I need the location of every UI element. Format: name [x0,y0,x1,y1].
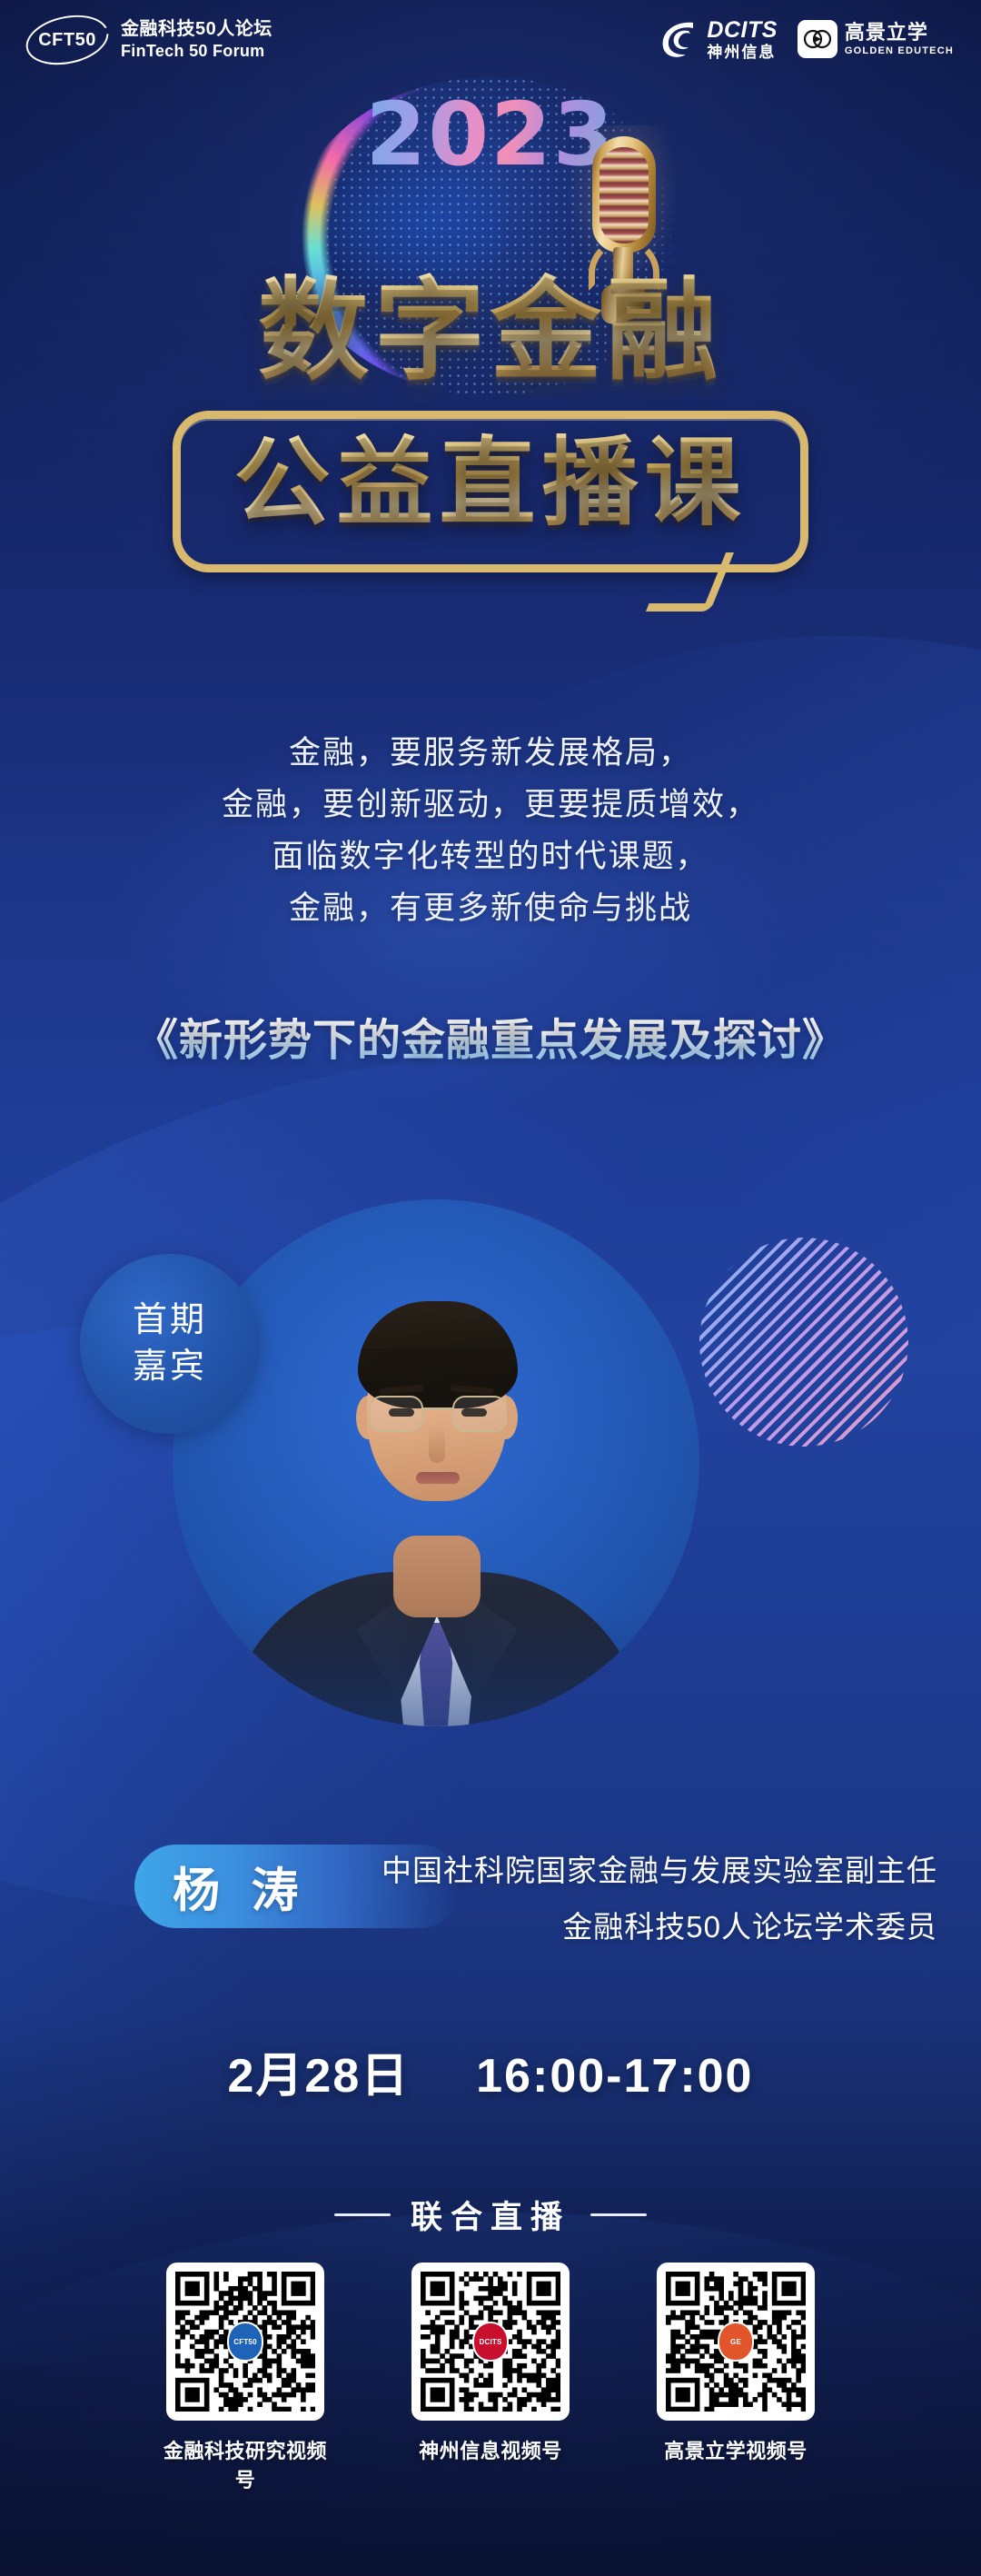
guest-name-row: 杨 涛 中国社科院国家金融与发展实验室副主任 金融科技50人论坛学术委员 [0,1837,981,1946]
qr-caption: 神州信息视频号 [404,2435,577,2464]
slogan-line-4: 金融，有更多新使命与挑战 [0,882,981,934]
striped-circle-gradient [699,1238,908,1447]
qr-code-image[interactable]: GE [657,2263,815,2421]
dcits-swirl-icon [659,18,699,60]
divider-right [590,2213,647,2216]
qr-code-image[interactable]: DCITS [411,2263,570,2421]
partner-logos: DCITS 神州信息 高景立学 GOLDEN EDUTECH [659,16,954,62]
slogan-line-2: 金融，要创新驱动，更要提质增效， [0,779,981,830]
guest-badge-line-1: 首期 [133,1298,207,1344]
golden-edutech-icon [798,20,837,58]
broadcast-section-label: 联合直播 [411,2192,570,2238]
cft50-en-name: FinTech 50 Forum [121,41,272,62]
cft50-logo: CFT50 金融科技50人论坛 FinTech 50 Forum [25,16,272,64]
slogan-block: 金融，要服务新发展格局， 金融，要创新驱动，更要提质增效， 面临数字化转型的时代… [0,727,981,934]
divider-left [334,2213,391,2216]
header-logos: CFT50 金融科技50人论坛 FinTech 50 Forum DCITS 神… [0,0,981,82]
slogan-line-1: 金融，要服务新发展格局， [0,727,981,779]
hero-title-line1: 数字金融 [0,273,981,389]
topic-title: 《新形势下的金融重点发展及探讨》 [0,1004,981,1068]
guest-portrait-block: 首期 嘉宾 [0,1163,981,1908]
qr-embedded-logo-icon: CFT50 [227,2322,263,2362]
cft50-cn-name: 金融科技50人论坛 [121,18,272,41]
slogan-line-3: 面临数字化转型的时代课题， [0,830,981,882]
golden-edutech-logo: 高景立学 GOLDEN EDUTECH [798,20,954,58]
guest-name: 杨 涛 [173,1853,307,1921]
guest-photo [173,1199,699,1726]
guest-title-line-1: 中国社科院国家金融与发展实验室副主任 [381,1843,937,1899]
guest-title-line-2: 金融科技50人论坛学术委员 [381,1899,937,1955]
qr-embedded-logo-icon: GE [718,2322,754,2362]
cft50-mark-icon: CFT50 [25,16,109,64]
guest-badge: 首期 嘉宾 [80,1254,260,1434]
golden-cn-name: 高景立学 [845,21,954,45]
qr-code-row: CFT50 金融科技研究视频号 DCITS 神州信息视频号 GE 高景立学视频号 [0,2263,981,2493]
broadcast-section-header: 联合直播 [0,2192,981,2238]
guest-badge-line-2: 嘉宾 [133,1344,207,1390]
schedule-row: 2月28日 16:00-17:00 [0,2037,981,2105]
golden-en-name: GOLDEN EDUTECH [845,45,954,57]
schedule-time: 16:00-17:00 [476,2050,753,2103]
dcits-cn-name: 神州信息 [707,44,778,62]
qr-embedded-logo-icon: DCITS [472,2322,509,2362]
qr-channel-item[interactable]: DCITS 神州信息视频号 [404,2263,577,2493]
qr-channel-item[interactable]: CFT50 金融科技研究视频号 [159,2263,332,2493]
dcits-logo: DCITS 神州信息 [659,16,778,62]
qr-caption: 金融科技研究视频号 [159,2435,332,2493]
dcits-en-name: DCITS [707,16,778,44]
qr-caption: 高景立学视频号 [649,2435,822,2464]
schedule-date: 2月28日 [228,2050,411,2103]
hero-title-line2: 公益直播课 [0,423,981,544]
cft50-mark-text: CFT50 [25,16,109,64]
qr-code-image[interactable]: CFT50 [166,2263,324,2421]
qr-channel-item[interactable]: GE 高景立学视频号 [649,2263,822,2493]
